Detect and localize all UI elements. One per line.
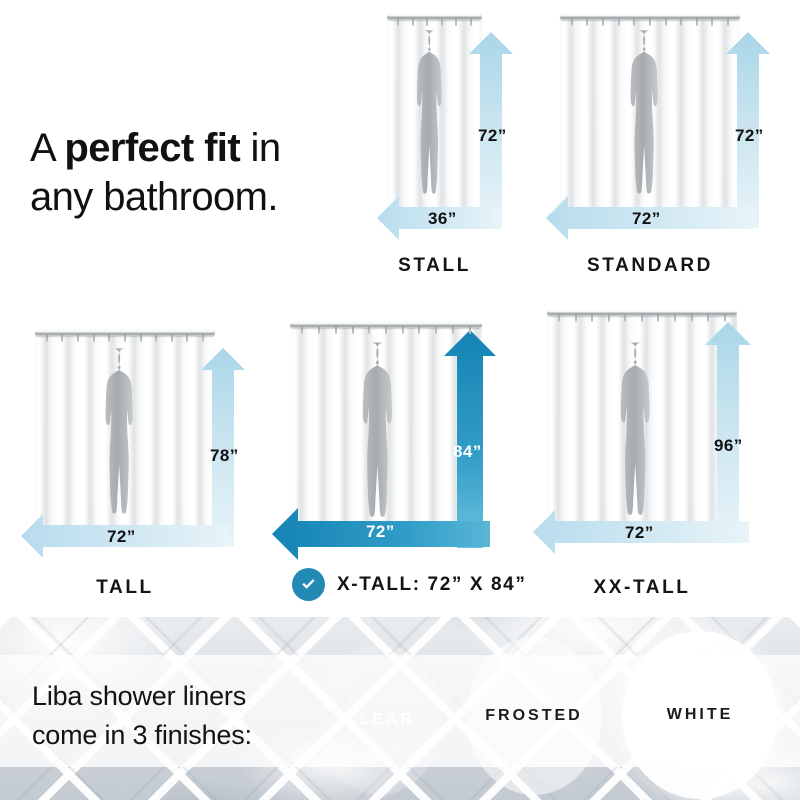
height-label-tall: 78” — [210, 446, 239, 466]
width-label-standard: 72” — [632, 209, 661, 229]
curtain-hooks — [387, 18, 482, 27]
person-silhouette — [615, 340, 668, 530]
headline-line-1: A perfect fit in — [30, 124, 380, 173]
finishes-copy: Liba shower liners come in 3 finishes: — [32, 677, 332, 755]
height-label-standard: 72” — [735, 126, 764, 146]
selected-size-label: X-TALL: 72” X 84” — [337, 574, 526, 596]
headline-pre: A — [30, 126, 64, 170]
height-label-xx-tall: 96” — [714, 436, 743, 456]
headline-bold: perfect fit — [64, 126, 240, 170]
finish-swatch-clear[interactable]: CLEAR — [318, 645, 442, 795]
finish-swatch-white[interactable]: WHITE — [622, 631, 778, 799]
size-label-standard: STANDARD — [560, 255, 740, 277]
curtain-hooks — [547, 314, 737, 323]
size-panel-stall: 72” 36” — [387, 14, 482, 220]
selected-size-row[interactable]: X-TALL: 72” X 84” — [292, 568, 526, 601]
size-panel-x-tall: 84” 72” — [290, 322, 482, 540]
check-icon — [292, 568, 325, 601]
width-label-x-tall: 72” — [366, 522, 395, 542]
person-silhouette — [412, 28, 458, 208]
finish-label-clear: CLEAR — [345, 711, 415, 729]
finish-label-white: WHITE — [667, 706, 734, 724]
headline-line-2: any bathroom. — [30, 173, 380, 222]
size-label-tall: TALL — [35, 577, 215, 599]
width-label-stall: 36” — [428, 209, 457, 229]
headline-post: in — [240, 126, 280, 170]
finishes-copy-line-2: come in 3 finishes: — [32, 716, 332, 755]
finishes-band: Liba shower liners come in 3 finishes: C… — [0, 617, 800, 800]
curtain-hooks — [35, 334, 215, 343]
person-silhouette — [357, 340, 411, 532]
width-label-xx-tall: 72” — [625, 523, 654, 543]
size-panel-standard: 72” 72” — [560, 14, 740, 220]
size-label-xx-tall: XX-TALL — [547, 577, 737, 599]
finish-label-frosted: FROSTED — [485, 707, 582, 725]
size-label-stall: STALL — [387, 255, 482, 277]
person-silhouette — [625, 28, 675, 208]
height-arrow-xx-tall — [705, 322, 751, 540]
curtain-hooks — [290, 326, 482, 335]
infographic-page: A perfect fit in any bathroom. — [0, 0, 800, 800]
size-panel-tall: 78” 72” — [35, 330, 215, 537]
height-label-stall: 72” — [478, 126, 507, 146]
curtain-hooks — [560, 18, 740, 27]
person-silhouette — [100, 346, 150, 528]
finishes-copy-line-1: Liba shower liners — [32, 677, 332, 716]
size-panel-xx-tall: 96” 72” — [547, 310, 737, 538]
width-label-tall: 72” — [107, 527, 136, 547]
height-label-x-tall: 84” — [453, 442, 482, 462]
page-title: A perfect fit in any bathroom. — [30, 124, 380, 222]
finish-swatch-frosted[interactable]: FROSTED — [466, 637, 602, 795]
